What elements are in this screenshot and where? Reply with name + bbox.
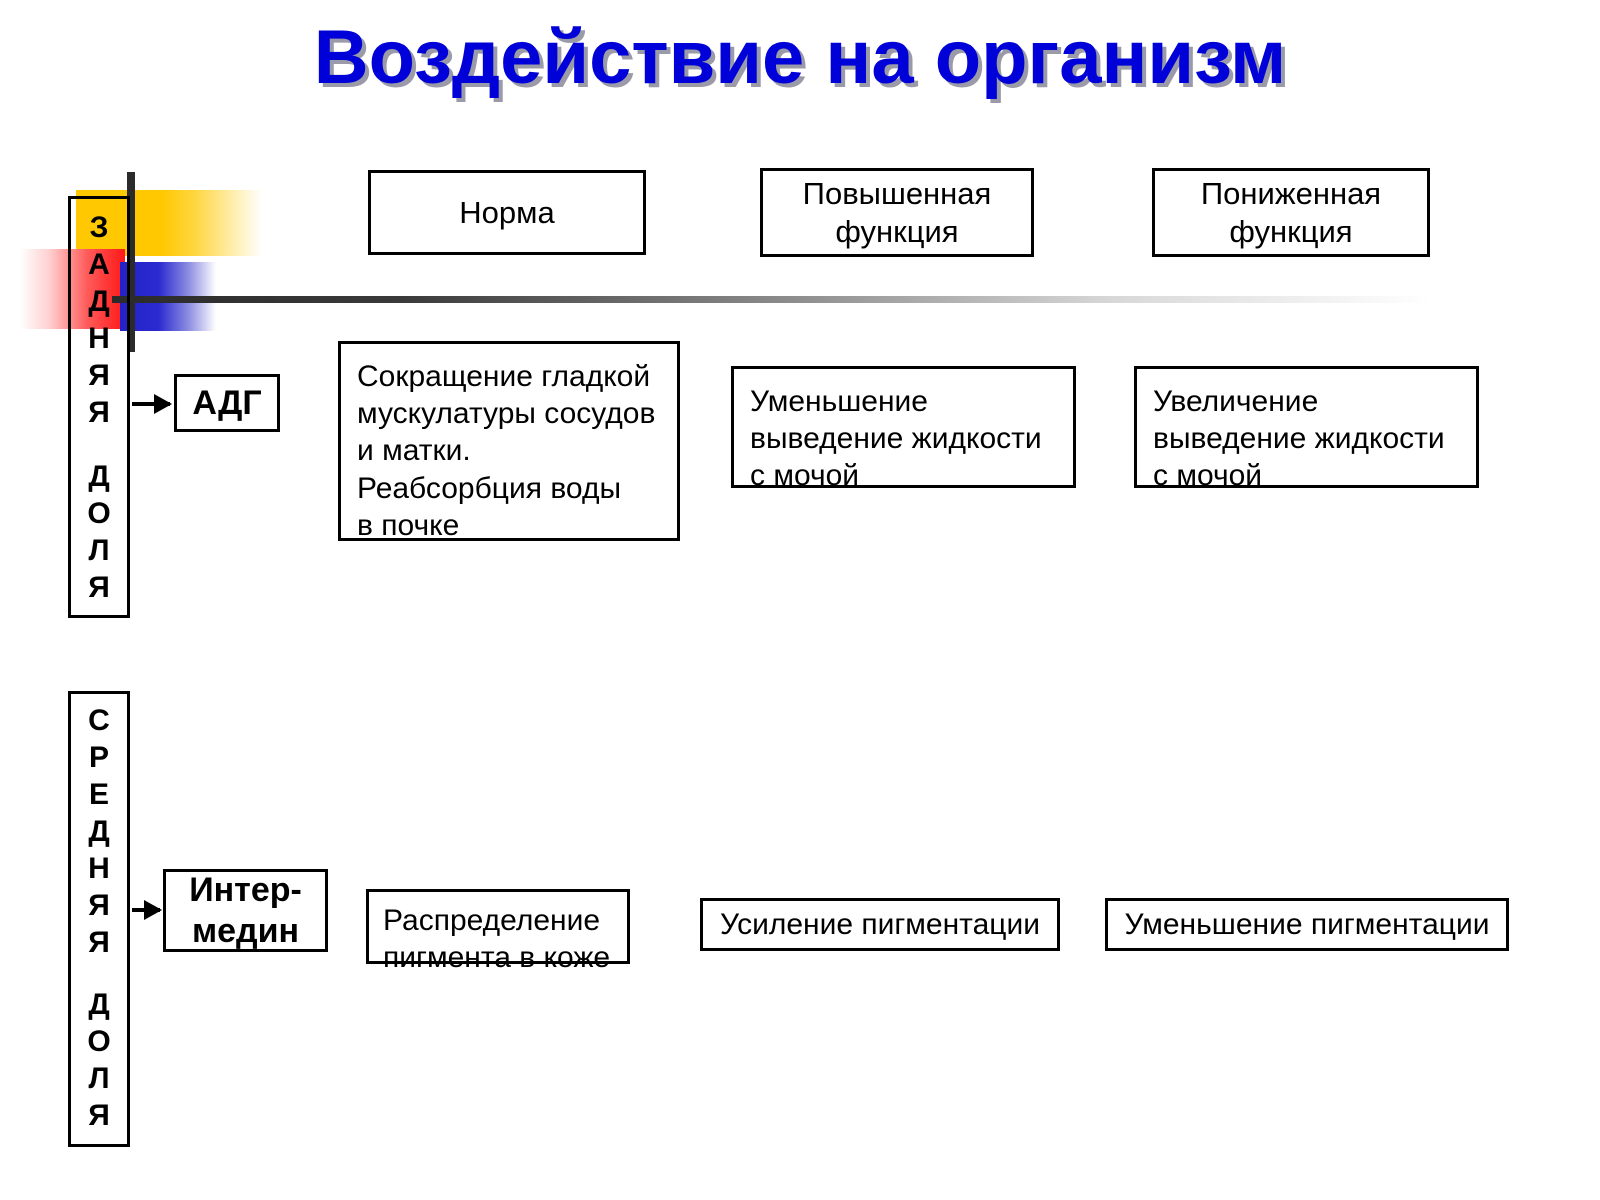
cell-middle-decreased-text: Уменьшение пигментации — [1125, 906, 1490, 943]
lobe-letter: Д — [88, 462, 109, 492]
cell-middle-normal: Распределение пигмента в коже — [366, 889, 630, 964]
lobe-letter: Д — [88, 817, 109, 847]
cell-posterior-normal-text: Сокращение гладкой мускулатуры сосудов и… — [357, 358, 655, 544]
cell-middle-increased-text: Усиление пигментации — [720, 906, 1040, 943]
cell-middle-increased: Усиление пигментации — [700, 898, 1060, 951]
lobe-letter: Я — [88, 398, 110, 428]
column-header-normal-label: Норма — [459, 194, 554, 232]
lobe-letter: Л — [88, 536, 109, 566]
column-header-decreased-label: Пониженная функция — [1201, 175, 1381, 251]
column-header-increased: Повышенная функция — [760, 168, 1034, 257]
lobe-letter: Н — [88, 324, 110, 354]
hormone-box-adg: АДГ — [174, 374, 280, 432]
hormone-box-intermedin-label: Интер- медин — [189, 870, 302, 950]
lobe-letter: Я — [88, 361, 110, 391]
lobe-letter: Р — [89, 743, 109, 773]
lobe-letter: З — [90, 213, 109, 243]
lobe-letter: С — [88, 706, 110, 736]
lobe-letter: Л — [88, 1064, 109, 1094]
lobe-letter: О — [87, 499, 110, 529]
cell-posterior-decreased: Увеличение выведение жидкости с мочой — [1134, 366, 1479, 488]
lobe-letter: Д — [88, 990, 109, 1020]
lobe-letter: Я — [88, 573, 110, 603]
column-header-increased-label: Повышенная функция — [803, 175, 992, 251]
slide-canvas: Воздействие на организм Норма Повышенная… — [0, 0, 1600, 1200]
cell-middle-normal-text: Распределение пигмента в коже — [383, 902, 610, 976]
column-header-normal: Норма — [368, 170, 646, 255]
lobe-letter: Я — [88, 1101, 110, 1131]
cell-posterior-increased-text: Уменьшение выведение жидкости с мочой — [750, 383, 1042, 495]
lobe-label-posterior: З А Д Н Я Я Д О Л Я — [68, 196, 130, 618]
lobe-letter: Я — [88, 928, 110, 958]
column-header-decreased: Пониженная функция — [1152, 168, 1430, 257]
cell-posterior-normal: Сокращение гладкой мускулатуры сосудов и… — [338, 341, 680, 541]
lobe-letter: Н — [88, 854, 110, 884]
lobe-letter: Д — [88, 287, 109, 317]
lobe-letter: Я — [88, 891, 110, 921]
lobe-label-middle: С Р Е Д Н Я Я Д О Л Я — [68, 691, 130, 1147]
hormone-box-adg-label: АДГ — [192, 383, 261, 423]
lobe-letter: О — [87, 1027, 110, 1057]
cell-middle-decreased: Уменьшение пигментации — [1105, 898, 1509, 951]
arrow-to-hormone-intermedin — [132, 908, 160, 912]
cell-posterior-increased: Уменьшение выведение жидкости с мочой — [731, 366, 1076, 488]
lobe-label-middle-letters: С Р Е Д Н Я Я Д О Л Я — [71, 694, 127, 1156]
lobe-letter: Е — [89, 780, 109, 810]
arrow-to-hormone-adg — [132, 402, 170, 406]
horizontal-rule — [112, 296, 1432, 303]
hormone-box-intermedin: Интер- медин — [163, 869, 328, 952]
lobe-letter: А — [88, 250, 110, 280]
page-title: Воздействие на организм — [0, 14, 1600, 101]
cell-posterior-decreased-text: Увеличение выведение жидкости с мочой — [1153, 383, 1445, 495]
lobe-label-posterior-letters: З А Д Н Я Я Д О Л Я — [71, 199, 127, 629]
